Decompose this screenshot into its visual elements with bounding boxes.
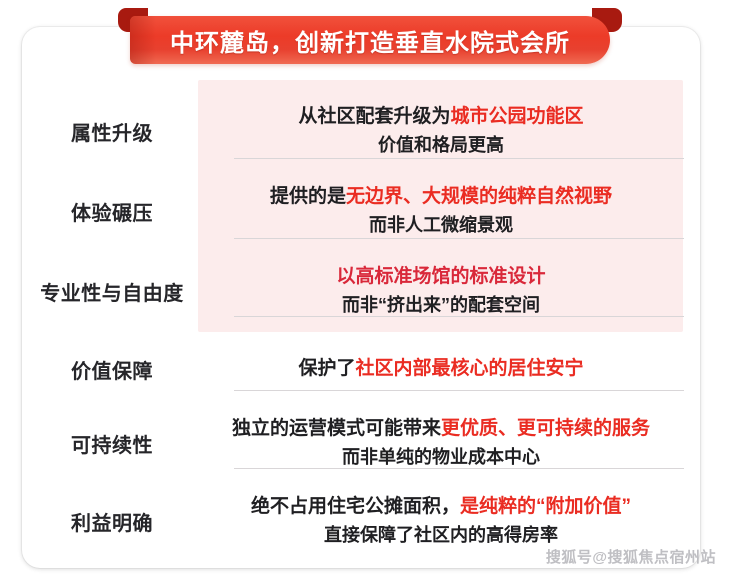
row-line-primary: 绝不占用住宅公摊面积，是纯粹的“附加价值” — [202, 493, 680, 522]
row-line-secondary: 而非人工微缩景观 — [202, 212, 680, 239]
table-row: 专业性与自由度以高标准场馆的标准设计而非“挤出来”的配套空间 — [22, 260, 700, 322]
row-line-primary-prefix: 从社区配套升级为 — [298, 106, 450, 127]
row-line-primary-prefix: 提供的是 — [270, 186, 346, 207]
row-divider — [234, 158, 684, 159]
row-label: 价值保障 — [22, 355, 202, 384]
row-divider — [234, 238, 684, 239]
row-line-primary-highlight: 以高标准场馆的标准设计 — [336, 266, 545, 287]
row-line-primary-highlight: 是纯粹的“附加价值” — [460, 496, 631, 517]
row-label: 专业性与自由度 — [22, 277, 202, 306]
row-label: 体验碾压 — [22, 197, 202, 226]
row-line-primary-highlight: 更优质、更可持续的服务 — [441, 418, 650, 439]
row-line-primary-prefix: 保护了 — [298, 358, 355, 379]
row-line-primary: 保护了社区内部最核心的居住安宁 — [202, 355, 680, 384]
row-divider — [234, 390, 684, 391]
row-line-primary: 独立的运营模式可能带来更优质、更可持续的服务 — [202, 415, 680, 444]
infographic-root: 中环麓岛，创新打造垂直水院式会所 属性升级从社区配套升级为城市公园功能区价值和格… — [0, 0, 740, 577]
row-line-primary: 以高标准场馆的标准设计 — [202, 263, 680, 292]
watermark: 搜狐号@搜狐焦点宿州站 — [546, 546, 716, 567]
row-label: 利益明确 — [22, 507, 202, 536]
row-line-primary-highlight: 社区内部最核心的居住安宁 — [356, 358, 584, 379]
row-line-primary-prefix: 独立的运营模式可能带来 — [232, 418, 441, 439]
banner-title: 中环麓岛，创新打造垂直水院式会所 — [170, 23, 570, 58]
row-content: 提供的是无边界、大规模的纯粹自然视野而非人工微缩景观 — [202, 183, 700, 240]
row-line-primary-highlight: 无边界、大规模的纯粹自然视野 — [346, 186, 612, 207]
row-line-primary-prefix: 绝不占用住宅公摊面积， — [251, 496, 460, 517]
row-line-primary: 提供的是无边界、大规模的纯粹自然视野 — [202, 183, 680, 212]
row-line-primary: 从社区配套升级为城市公园功能区 — [202, 103, 680, 132]
row-content: 以高标准场馆的标准设计而非“挤出来”的配套空间 — [202, 263, 700, 320]
row-content: 独立的运营模式可能带来更优质、更可持续的服务而非单纯的物业成本中心 — [202, 415, 700, 472]
row-label: 可持续性 — [22, 429, 202, 458]
ribbon-body: 中环麓岛，创新打造垂直水院式会所 — [130, 16, 610, 64]
comparison-rows: 属性升级从社区配套升级为城市公园功能区价值和格局更高体验碾压提供的是无边界、大规… — [22, 70, 700, 540]
row-content: 绝不占用住宅公摊面积，是纯粹的“附加价值”直接保障了社区内的高得房率 — [202, 493, 700, 550]
ribbon-banner: 中环麓岛，创新打造垂直水院式会所 — [118, 8, 622, 64]
row-content: 保护了社区内部最核心的居住安宁 — [202, 355, 700, 384]
table-row: 可持续性独立的运营模式可能带来更优质、更可持续的服务而非单纯的物业成本中心 — [22, 412, 700, 474]
row-label: 属性升级 — [22, 117, 202, 146]
row-line-secondary: 价值和格局更高 — [202, 132, 680, 159]
row-divider — [234, 316, 684, 317]
row-content: 从社区配套升级为城市公园功能区价值和格局更高 — [202, 103, 700, 160]
row-divider — [234, 468, 684, 469]
row-line-primary-highlight: 城市公园功能区 — [451, 106, 584, 127]
table-row: 属性升级从社区配套升级为城市公园功能区价值和格局更高 — [22, 100, 700, 162]
table-row: 利益明确绝不占用住宅公摊面积，是纯粹的“附加价值”直接保障了社区内的高得房率 — [22, 490, 700, 552]
table-row: 体验碾压提供的是无边界、大规模的纯粹自然视野而非人工微缩景观 — [22, 180, 700, 242]
